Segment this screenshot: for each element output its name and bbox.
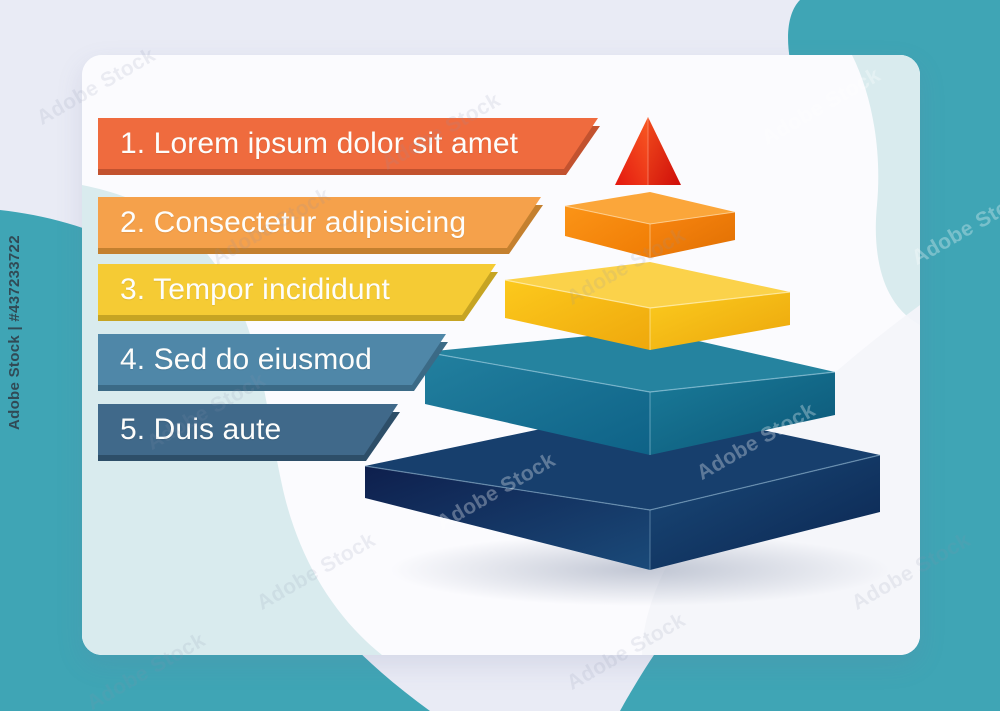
list-item-2-label: 2. Consectetur adipisicing [120,197,466,248]
list-item-3-label: 3. Tempor incididunt [120,264,390,315]
list-item-1[interactable]: 1. Lorem ipsum dolor sit amet [98,118,610,190]
list-item-5[interactable]: 5. Duis aute [98,404,410,476]
list-item-5-label: 5. Duis aute [120,404,281,455]
watermark-credit: Adobe Stock | #437233722 [6,235,23,430]
list-item-2[interactable]: 2. Consectetur adipisicing [98,197,553,269]
list-item-3[interactable]: 3. Tempor incididunt [98,264,508,336]
label-banner-list: 1. Lorem ipsum dolor sit amet 2. Consect… [0,0,1000,711]
list-item-1-label: 1. Lorem ipsum dolor sit amet [120,118,518,169]
list-item-4-label: 4. Sed do eiusmod [120,334,372,385]
list-item-4[interactable]: 4. Sed do eiusmod [98,334,458,406]
infographic-canvas: 1. Lorem ipsum dolor sit amet 2. Consect… [0,0,1000,711]
